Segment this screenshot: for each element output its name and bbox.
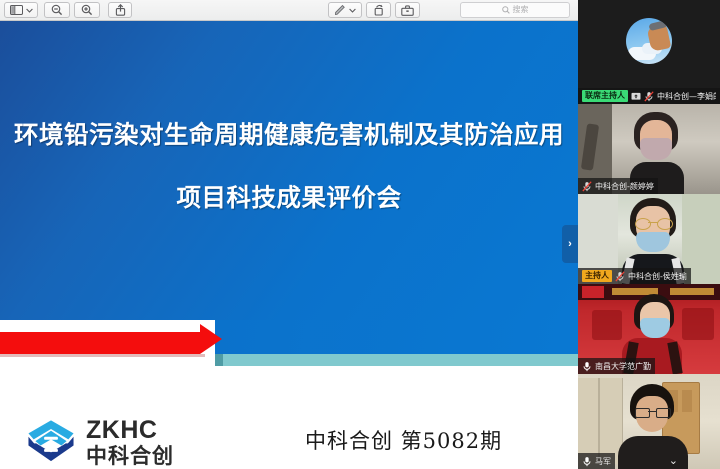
zoom-in-icon xyxy=(81,4,93,16)
chevron-down-icon xyxy=(349,8,356,13)
rotate-icon xyxy=(373,4,385,16)
slide-teal-notch xyxy=(215,354,223,366)
screen: 搜索 环境铅污染对生命周期健康危害机制及其防治应用 项目科技成果评价会 xyxy=(0,0,720,469)
zkhc-logo-text: ZKHC 中科合创 xyxy=(86,418,174,467)
viewer-toolbar: 搜索 xyxy=(0,0,578,21)
markup-pen-icon xyxy=(334,4,346,16)
search-icon xyxy=(502,6,510,14)
slide-footer-text: 中科合创 第5082期 xyxy=(305,425,502,455)
annotation-toolbox-button[interactable] xyxy=(395,2,420,18)
slide-title-line-2: 项目科技成果评价会 xyxy=(177,179,402,214)
panel-collapse-button[interactable]: › xyxy=(562,225,578,263)
chevron-down-icon[interactable]: ⌄ xyxy=(669,456,678,467)
share-icon xyxy=(115,4,126,16)
participant-namebar: 主持人 中科合创-侯姓瑜 xyxy=(578,268,691,284)
participant-tile[interactable]: 马军 ⌄ xyxy=(578,374,720,469)
participant-name: 中科合创-侯姓瑜 xyxy=(628,271,687,282)
participant-namebar: 南昌大学范广勤 xyxy=(578,358,655,374)
participant-name: 中科合创-颜婷婷 xyxy=(595,181,654,192)
participant-tile[interactable]: 中科合创-颜婷婷 xyxy=(578,104,720,194)
participant-namebar: 联席主持人 中科合创—李娟的 xyxy=(578,88,720,104)
slide-red-band xyxy=(0,332,200,354)
role-badge: 主持人 xyxy=(582,270,612,282)
participant-namebar: 中科合创-颜婷婷 xyxy=(578,178,658,194)
slide-page: 环境铅污染对生命周期健康危害机制及其防治应用 项目科技成果评价会 ZKHC 中科… xyxy=(0,21,578,469)
chevron-down-icon xyxy=(26,8,33,13)
participant-name: 中科合创—李娟的 xyxy=(657,91,716,102)
screen-share-icon xyxy=(631,92,641,101)
participant-tile[interactable]: 主持人 中科合创-侯姓瑜 xyxy=(578,194,720,284)
participant-tile[interactable]: 联席主持人 中科合创—李娟的 xyxy=(578,0,720,104)
logo-text-en: ZKHC xyxy=(86,418,174,443)
mic-muted-icon xyxy=(615,271,625,282)
document-viewer-window: 搜索 环境铅污染对生命周期健康危害机制及其防治应用 项目科技成果评价会 xyxy=(0,0,578,469)
zoom-out-button[interactable] xyxy=(44,2,70,18)
logo-text-cn: 中科合创 xyxy=(86,446,174,467)
zoom-out-icon xyxy=(51,4,63,16)
annotation-toolbox-icon xyxy=(401,5,414,16)
markup-button[interactable] xyxy=(328,2,362,18)
mic-muted-icon xyxy=(582,181,592,192)
rotate-button[interactable] xyxy=(366,2,391,18)
video-participant-strip: 联席主持人 中科合创—李娟的 xyxy=(578,0,720,469)
sidebar-toggle-button[interactable] xyxy=(4,2,38,18)
participant-name: 马军 xyxy=(595,456,611,467)
role-badge: 联席主持人 xyxy=(582,90,628,102)
share-button[interactable] xyxy=(108,2,132,18)
slide-red-band-shadow xyxy=(0,354,205,357)
search-input[interactable]: 搜索 xyxy=(460,2,570,18)
slide-title-line-1: 环境铅污染对生命周期健康危害机制及其防治应用 xyxy=(14,116,564,151)
avatar xyxy=(626,18,672,64)
participant-namebar: 马军 xyxy=(578,453,615,469)
zkhc-logo-mark-icon xyxy=(25,416,77,468)
zoom-in-button[interactable] xyxy=(74,2,100,18)
chevron-right-icon: › xyxy=(568,238,572,250)
mic-muted-icon xyxy=(644,91,654,102)
mic-on-icon xyxy=(582,456,592,467)
slide-title-block: 环境铅污染对生命周期健康危害机制及其防治应用 项目科技成果评价会 xyxy=(0,21,578,320)
mic-on-icon xyxy=(582,361,592,372)
participant-name: 南昌大学范广勤 xyxy=(595,361,651,372)
sidebar-icon xyxy=(10,5,23,15)
zkhc-logo: ZKHC 中科合创 xyxy=(25,416,174,468)
slide-teal-band xyxy=(215,354,578,366)
slide-red-arrow xyxy=(200,324,222,354)
participant-tile[interactable]: 南昌大学范广勤 xyxy=(578,284,720,374)
slide-blue-step-shape xyxy=(215,320,578,354)
search-placeholder: 搜索 xyxy=(513,6,529,14)
